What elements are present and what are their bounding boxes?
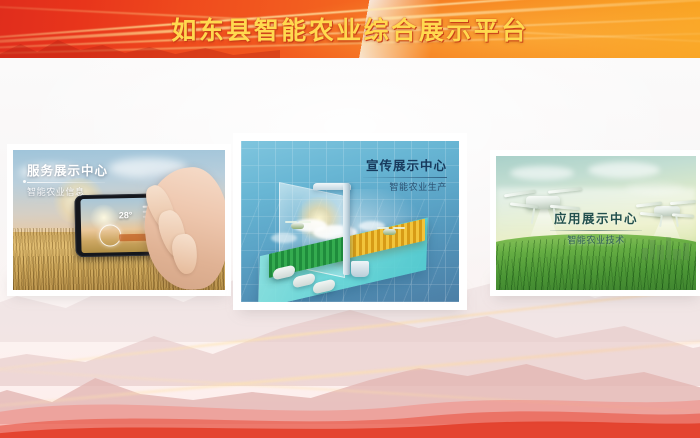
drone-icon <box>285 219 311 231</box>
drone-body <box>291 223 304 229</box>
cloud-icon <box>510 166 574 180</box>
light-pillar-icon <box>343 183 350 275</box>
caption-dot-icon <box>23 180 26 183</box>
card-caption-application: 应用展示中心 智能农业技术 <box>550 208 642 246</box>
red-wave-band-icon <box>0 408 700 438</box>
page-title: 如东县智能农业综合展示平台 <box>0 0 700 58</box>
crop-rows-icon <box>496 256 696 290</box>
card-image-promotion: 宣传展示中心 智能农业生产 <box>241 141 459 302</box>
card-subtitle: 智能农业信息 <box>27 185 108 198</box>
card-image-application: 应用展示中心 智能农业技术 <box>496 156 696 290</box>
cloud-icon <box>626 182 684 194</box>
card-subtitle: 智能农业生产 <box>363 180 447 193</box>
card-caption-service: 服务展示中心 智能农业信息 <box>27 160 108 198</box>
card-application-display-center[interactable]: 应用展示中心 智能农业技术 <box>490 150 700 296</box>
card-title: 宣传展示中心 <box>363 155 447 174</box>
card-promotion-display-center[interactable]: 宣传展示中心 智能农业生产 <box>233 133 467 310</box>
caption-divider <box>550 230 642 231</box>
drone-body <box>383 229 396 235</box>
card-title: 应用展示中心 <box>550 208 642 227</box>
card-caption-promotion: 宣传展示中心 智能农业生产 <box>363 155 447 193</box>
drone-leg <box>531 208 535 224</box>
header-banner: 如东县智能农业综合展示平台 <box>0 0 700 58</box>
drone-leg <box>675 215 679 227</box>
drone-icon <box>636 194 694 228</box>
bucket-icon <box>351 261 369 277</box>
drone-rotor <box>393 227 405 229</box>
card-subtitle: 智能农业技术 <box>550 233 642 246</box>
drone-leg <box>659 215 663 227</box>
drone-rotor <box>548 187 582 193</box>
caption-divider <box>363 177 447 178</box>
drone-rotor <box>299 221 311 223</box>
skyline-icon <box>640 234 692 260</box>
card-image-service: 28° 服务展示中心 智能农业信息 <box>13 150 225 290</box>
caption-divider <box>27 182 105 183</box>
drone-rotor <box>285 221 297 223</box>
drone-icon <box>377 225 407 239</box>
hud-temperature: 28° <box>119 210 133 220</box>
cloud-icon <box>271 233 297 243</box>
hud-ring-icon <box>99 224 121 246</box>
drone-rotor <box>377 227 389 229</box>
drone-rotor <box>670 200 696 205</box>
app-stage: 如东县智能农业综合展示平台 28° <box>0 0 700 438</box>
card-title: 服务展示中心 <box>27 160 108 179</box>
cloud-icon <box>588 162 660 178</box>
card-service-display-center[interactable]: 28° 服务展示中心 智能农业信息 <box>7 144 231 296</box>
